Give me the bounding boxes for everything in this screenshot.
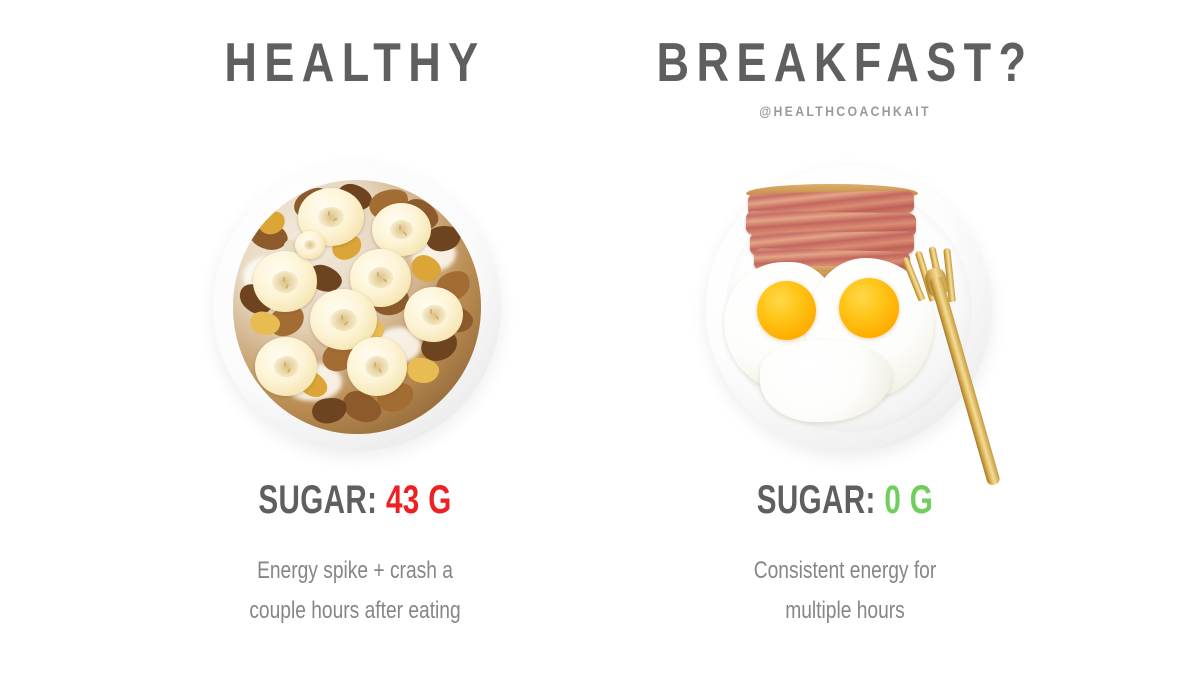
headline-left: HEALTHY bbox=[109, 32, 601, 92]
banana-slice bbox=[295, 231, 325, 259]
headline-right: BREAKFAST? bbox=[599, 32, 1091, 92]
caption-right-line2: multiple hours bbox=[605, 591, 1085, 631]
cereal-bowl-contents bbox=[233, 180, 481, 433]
egg-yolk-left bbox=[757, 281, 816, 340]
banana-slice bbox=[255, 337, 317, 395]
caption-right-line1: Consistent energy for bbox=[605, 551, 1085, 591]
banana-slice bbox=[347, 337, 406, 395]
egg-yolk-right bbox=[839, 278, 899, 338]
caption-right: Consistent energy for multiple hours bbox=[605, 551, 1085, 631]
sugar-line-left: SUGAR: 43 G bbox=[133, 477, 577, 523]
caption-left-line2: couple hours after eating bbox=[115, 591, 595, 631]
caption-left-line1: Energy spike + crash a bbox=[115, 551, 595, 591]
sugar-value-left: 43 G bbox=[386, 478, 452, 522]
banana-slice bbox=[253, 251, 317, 312]
sugar-label-right: SUGAR: bbox=[757, 478, 876, 522]
cereal-bowl-image bbox=[213, 163, 501, 451]
infographic-canvas: HEALTHY BREAKFAST? @HEALTHCOACHKAIT bbox=[0, 0, 1200, 675]
gold-fork bbox=[895, 240, 1005, 495]
sugar-line-right: SUGAR: 0 G bbox=[623, 477, 1067, 523]
sugar-label-left: SUGAR: bbox=[258, 478, 377, 522]
social-handle: @HEALTHCOACHKAIT bbox=[581, 103, 1109, 119]
caption-left: Energy spike + crash a couple hours afte… bbox=[115, 551, 595, 631]
sugar-value-right: 0 G bbox=[884, 478, 933, 522]
fork-handle bbox=[929, 276, 1001, 486]
